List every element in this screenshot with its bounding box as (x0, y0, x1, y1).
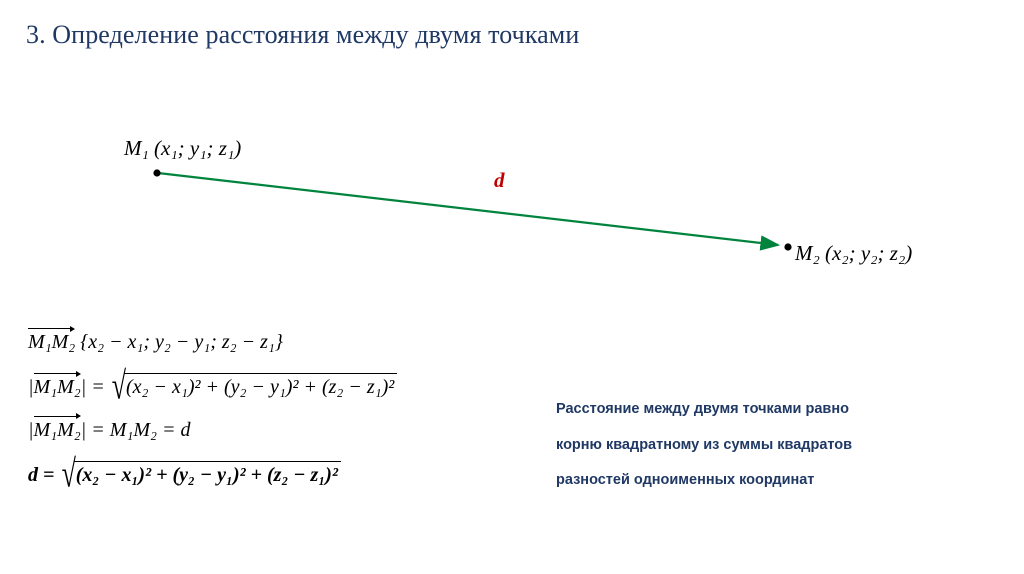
page-title: 3. Определение расстояния между двумя то… (26, 20, 579, 50)
description-text: Расстояние между двумя точками равно кор… (556, 392, 1006, 499)
point-label-m2: M₂ (x₂; y₂; z₂) (795, 241, 912, 266)
formula-block: M₁M₂ {x₂ − x₁; y₂ − y₁; z₂ − z₁} |M₁M₂| … (28, 328, 568, 503)
formula-line-4-lhs: d = (28, 464, 54, 486)
distance-diagram: M₁ (x₁; y₁; z₁) M₂ (x₂; y₂; z₂) d (0, 100, 1024, 300)
segment-arrow-svg (0, 100, 1024, 300)
radical-sign-4: √ (61, 450, 75, 499)
formula-line-3: |M₁M₂| = M₁M₂ = d (28, 416, 568, 443)
radical-4: √(x₂ − x₁)² + (y₂ − y₁)² + (z₂ − z₁)² (59, 457, 341, 490)
description-line-3: разностей одноименных координат (556, 463, 1006, 499)
vector-m1m2-2: M₁M₂ (34, 373, 81, 400)
radicand-4: (x₂ − x₁)² + (y₂ − y₁)² + (z₂ − z₁)² (74, 461, 341, 488)
formula-line-1: M₁M₂ {x₂ − x₁; y₂ − y₁; z₂ − z₁} (28, 328, 568, 355)
radicand-2: (x₂ − x₁)² + (y₂ − y₁)² + (z₂ − z₁)² (124, 373, 397, 400)
radical-sign-2: √ (112, 362, 126, 411)
slide: 3. Определение расстояния между двумя то… (0, 0, 1024, 574)
vector-m1m2-1: M₁M₂ (28, 328, 75, 355)
formula-line-1-coords: {x₂ − x₁; y₂ − y₁; z₂ − z₁} (75, 331, 283, 353)
formula-line-2: |M₁M₂| = √(x₂ − x₁)² + (y₂ − y₁)² + (z₂ … (28, 369, 568, 402)
distance-label-d: d (494, 168, 505, 193)
point-m2-dot (784, 243, 791, 250)
vector-m1m2-3: M₁M₂ (34, 416, 81, 443)
description-line-1: Расстояние между двумя точками равно (556, 392, 1006, 428)
formula-line-4: d = √(x₂ − x₁)² + (y₂ − y₁)² + (z₂ − z₁)… (28, 457, 568, 490)
point-m1-dot (153, 169, 160, 176)
description-line-2: корню квадратному из суммы квадратов (556, 428, 1006, 464)
radical-2: √(x₂ − x₁)² + (y₂ − y₁)² + (z₂ − z₁)² (110, 369, 398, 402)
abs-close-eq-3: | = M₁M₂ = d (81, 419, 191, 441)
point-label-m1: M₁ (x₁; y₁; z₁) (124, 136, 241, 161)
abs-close-eq-2: | = (81, 376, 105, 398)
segment-m1-m2 (158, 173, 778, 245)
